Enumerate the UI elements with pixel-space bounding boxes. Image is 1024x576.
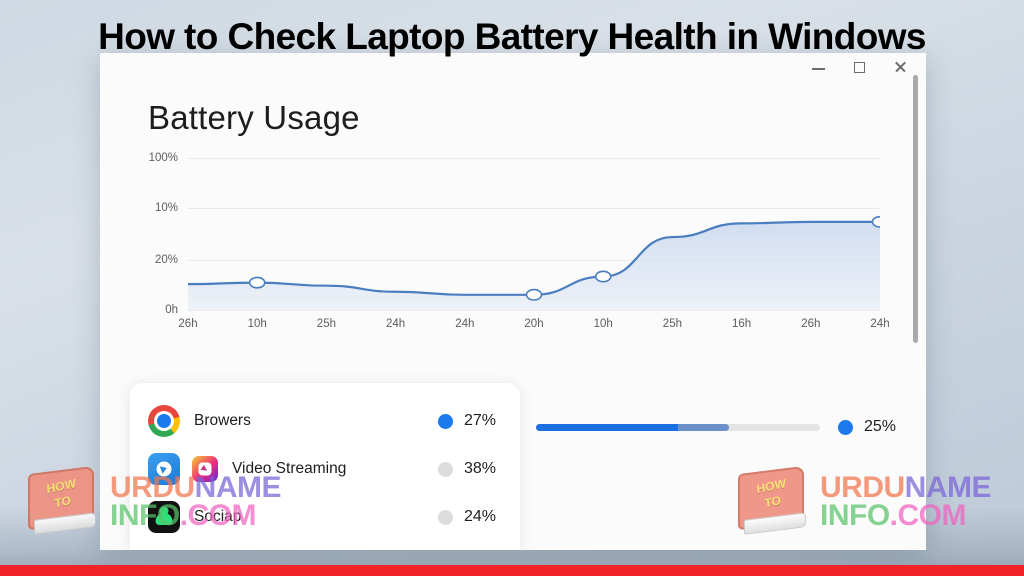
badge-line-2: TO [54, 493, 72, 510]
x-axis-tick: 24h [870, 318, 889, 330]
x-axis-tick: 26h [801, 318, 820, 330]
app-name-label: Browers [194, 412, 438, 430]
usage-dot [438, 414, 453, 429]
y-axis-tick: 20% [155, 254, 178, 266]
y-axis-tick: 10% [155, 202, 178, 214]
chart-plot-area: 100%10%20%0h [188, 158, 880, 310]
usage-percent-value: 38% [464, 460, 496, 478]
x-axis-tick: 26h [178, 318, 197, 330]
how-to-book-icon: HOW TO [732, 466, 814, 538]
chart-markers-svg [188, 158, 880, 310]
chart-x-axis-labels: 26h10h25h24h24h20h10h25h16h26h24h [188, 318, 880, 336]
progress-fill-secondary [678, 424, 729, 431]
usage-percent-value: 24% [464, 508, 496, 526]
chart-data-point[interactable] [527, 290, 542, 300]
chart-data-point[interactable] [873, 217, 881, 227]
window-controls [811, 59, 908, 74]
progress-value: 25% [864, 418, 896, 436]
close-icon[interactable] [893, 59, 908, 74]
badge-line-1: HOW [46, 476, 76, 496]
gridline [188, 310, 880, 311]
watermark-info: INFO [110, 499, 180, 532]
bottom-red-bar [0, 565, 1024, 576]
watermark-text: URDUNAME INFO.COM [820, 474, 991, 529]
how-to-book-icon: HOW TO [22, 466, 104, 538]
x-axis-tick: 24h [455, 318, 474, 330]
chart-data-point[interactable] [250, 277, 265, 287]
chart-data-point[interactable] [596, 271, 611, 281]
x-axis-tick: 25h [663, 318, 682, 330]
battery-progress-panel: 25% [536, 410, 896, 444]
y-axis-tick: 100% [149, 152, 178, 164]
watermark-com: .COM [180, 499, 256, 532]
minimize-icon[interactable] [811, 59, 826, 74]
page-title: How to Check Laptop Battery Health in Wi… [0, 16, 1024, 58]
x-axis-tick: 24h [386, 318, 405, 330]
watermark-text: URDUNAME INFO.COM [110, 474, 281, 529]
usage-dot [438, 462, 453, 477]
y-axis-tick: 0h [165, 304, 178, 316]
x-axis-tick: 10h [594, 318, 613, 330]
watermark-left: HOW TO URDUNAME INFO.COM [22, 466, 281, 538]
watermark-com: .COM [890, 499, 966, 532]
usage-percent-value: 27% [464, 412, 496, 430]
panel-heading: Battery Usage [148, 99, 360, 137]
app-usage-percent: 24% [438, 508, 496, 526]
x-axis-tick: 16h [732, 318, 751, 330]
app-usage-percent: 38% [438, 460, 496, 478]
app-usage-percent: 27% [438, 412, 496, 430]
badge-line-2: TO [764, 493, 782, 510]
watermark-right: HOW TO URDUNAME INFO.COM [732, 466, 991, 538]
x-axis-tick: 10h [248, 318, 267, 330]
progress-dot [838, 420, 853, 435]
vertical-scrollbar[interactable] [913, 75, 918, 343]
app-usage-row[interactable]: Browers27% [148, 397, 502, 445]
progress-slider[interactable] [536, 424, 820, 431]
usage-dot [438, 510, 453, 525]
progress-legend: 25% [838, 418, 896, 436]
progress-fill-primary [536, 424, 678, 431]
chrome-icon [148, 405, 180, 437]
battery-usage-chart: 100%10%20%0h 26h10h25h24h24h20h10h25h16h… [140, 158, 880, 343]
x-axis-tick: 20h [524, 318, 543, 330]
x-axis-tick: 25h [317, 318, 336, 330]
watermark-info: INFO [820, 499, 890, 532]
badge-line-1: HOW [756, 476, 786, 496]
maximize-icon[interactable] [852, 59, 867, 74]
